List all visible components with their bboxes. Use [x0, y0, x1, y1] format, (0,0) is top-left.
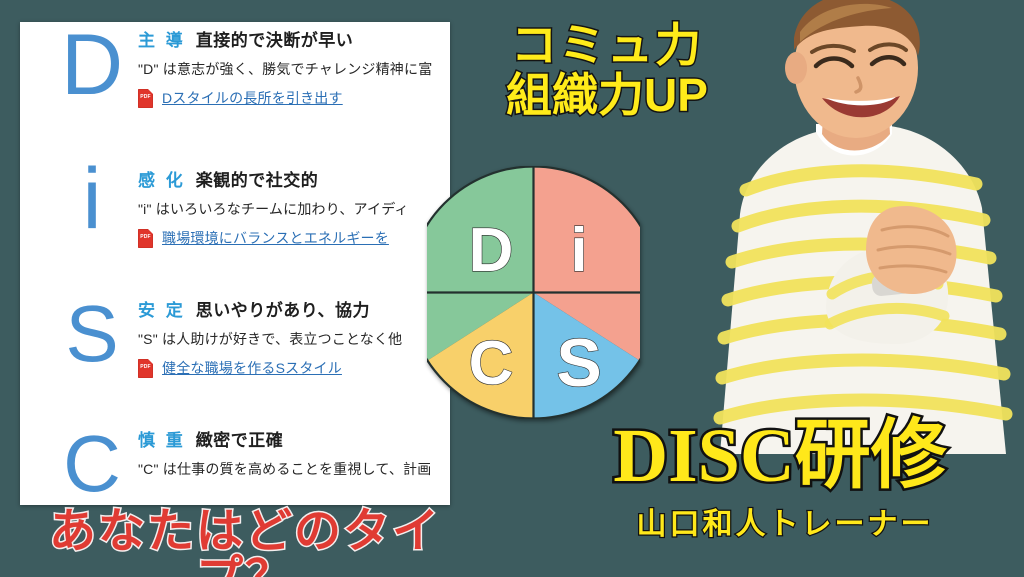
disc-row-s-link-label[interactable]: 健全な職場を作るSスタイル: [162, 358, 342, 378]
disc-row-s-phrase: 思いやりがあり、協力: [196, 301, 370, 320]
main-title: DISC研修: [540, 418, 1020, 494]
disc-row-s-heading: 安 定思いやりがあり、協力: [138, 300, 450, 321]
disc-row-s-keyword: 安 定: [138, 301, 186, 320]
thumbnail-canvas: D 主 導直接的で決断が早い "D" は意志が強く、勝気でチャレンジ精神に富 D…: [0, 0, 1024, 577]
disc-row-c-description: "C" は仕事の質を高めることを重視して、計画: [138, 460, 450, 479]
disc-row-i-body: 感 化楽観的で社交的 "i" はいろいろなチームに加わり、アイディ 職場環境にバ…: [138, 170, 450, 248]
disc-row-d-body: 主 導直接的で決断が早い "D" は意志が強く、勝気でチャレンジ精神に富 Dスタ…: [138, 30, 450, 108]
disc-row-i-heading: 感 化楽観的で社交的: [138, 170, 450, 191]
disc-row-d-description: "D" は意志が強く、勝気でチャレンジ精神に富: [138, 60, 450, 79]
disc-row-c-keyword: 慎 重: [138, 431, 186, 450]
disc-row-c-body: 慎 重緻密で正確 "C" は仕事の質を高めることを重視して、計画: [138, 430, 450, 505]
disc-row-i-link[interactable]: 職場環境にバランスとエネルギーを: [138, 228, 450, 248]
big-letter-s: S: [56, 294, 128, 374]
subtitle-trainer-name: 山口和人トレーナー: [560, 510, 1010, 540]
wheel-letter-i: i: [570, 216, 587, 285]
pdf-icon: [138, 89, 153, 108]
big-letter-i: i: [56, 156, 128, 242]
disc-row-i-phrase: 楽観的で社交的: [196, 171, 319, 190]
disc-document-content: D 主 導直接的で決断が早い "D" は意志が強く、勝気でチャレンジ精神に富 D…: [20, 22, 450, 505]
headline-line-1: コミュ力: [511, 19, 703, 71]
pdf-icon: [138, 229, 153, 248]
disc-row-i-description: "i" はいろいろなチームに加わり、アイディ: [138, 200, 450, 219]
disc-row-d-link-label[interactable]: Dスタイルの長所を引き出す: [162, 88, 343, 108]
wheel-letter-s: S: [556, 325, 601, 401]
wheel-letter-d: D: [469, 216, 514, 285]
big-letter-d: D: [56, 22, 128, 108]
wheel-letter-c: C: [469, 329, 514, 398]
disc-row-d-heading: 主 導直接的で決断が早い: [138, 30, 450, 51]
disc-row-s-description: "S" は人助けが好きで、表立つことなく他: [138, 330, 450, 349]
disc-row-i-keyword: 感 化: [138, 171, 186, 190]
headline-line-2: 組織力UP: [472, 72, 742, 118]
disc-row-i-link-label[interactable]: 職場環境にバランスとエネルギーを: [162, 228, 389, 248]
headline-text: コミュ力 組織力UP: [472, 22, 742, 118]
big-letter-c: C: [56, 424, 128, 504]
pdf-icon: [138, 359, 153, 378]
disc-row-s-link[interactable]: 健全な職場を作るSスタイル: [138, 358, 450, 378]
disc-wheel: D i C S: [427, 166, 640, 419]
disc-row-d-phrase: 直接的で決断が早い: [196, 31, 354, 50]
disc-row-c-heading: 慎 重緻密で正確: [138, 430, 450, 451]
disc-row-c-phrase: 緻密で正確: [196, 431, 284, 450]
disc-document-card: D 主 導直接的で決断が早い "D" は意志が強く、勝気でチャレンジ精神に富 D…: [20, 22, 450, 505]
question-banner: あなたはどのタイプ？: [10, 508, 480, 577]
disc-row-d-link[interactable]: Dスタイルの長所を引き出す: [138, 88, 450, 108]
disc-row-d-keyword: 主 導: [138, 31, 186, 50]
disc-row-s-body: 安 定思いやりがあり、協力 "S" は人助けが好きで、表立つことなく他 健全な職…: [138, 300, 450, 378]
